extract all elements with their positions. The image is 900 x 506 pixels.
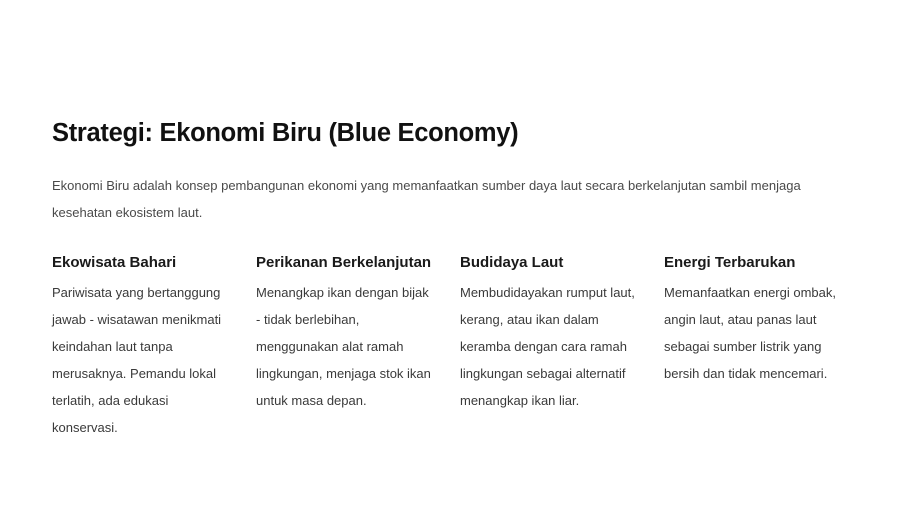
column-heading: Energi Terbarukan xyxy=(664,252,844,273)
page-title: Strategi: Ekonomi Biru (Blue Economy) xyxy=(52,118,842,150)
strategy-columns: Ekowisata Bahari Pariwisata yang bertang… xyxy=(52,252,842,441)
column-body: Membudidayakan rumput laut, kerang, atau… xyxy=(460,279,640,414)
strategy-column-budidaya-laut: Budidaya Laut Membudidayakan rumput laut… xyxy=(460,252,640,414)
slide-content: Strategi: Ekonomi Biru (Blue Economy) Ek… xyxy=(52,118,842,441)
column-body: Menangkap ikan dengan bijak - tidak berl… xyxy=(256,279,436,414)
strategy-column-energi-terbarukan: Energi Terbarukan Memanfaatkan energi om… xyxy=(664,252,844,387)
column-heading: Budidaya Laut xyxy=(460,252,640,273)
column-body: Memanfaatkan energi ombak, angin laut, a… xyxy=(664,279,844,387)
strategy-column-perikanan-berkelanjutan: Perikanan Berkelanjutan Menangkap ikan d… xyxy=(256,252,436,414)
column-heading: Perikanan Berkelanjutan xyxy=(256,252,436,273)
slide-root: Strategi: Ekonomi Biru (Blue Economy) Ek… xyxy=(0,0,900,506)
column-body: Pariwisata yang bertanggung jawab - wisa… xyxy=(52,279,232,441)
strategy-column-ekowisata-bahari: Ekowisata Bahari Pariwisata yang bertang… xyxy=(52,252,232,441)
column-heading: Ekowisata Bahari xyxy=(52,252,232,273)
intro-paragraph: Ekonomi Biru adalah konsep pembangunan e… xyxy=(52,172,840,226)
